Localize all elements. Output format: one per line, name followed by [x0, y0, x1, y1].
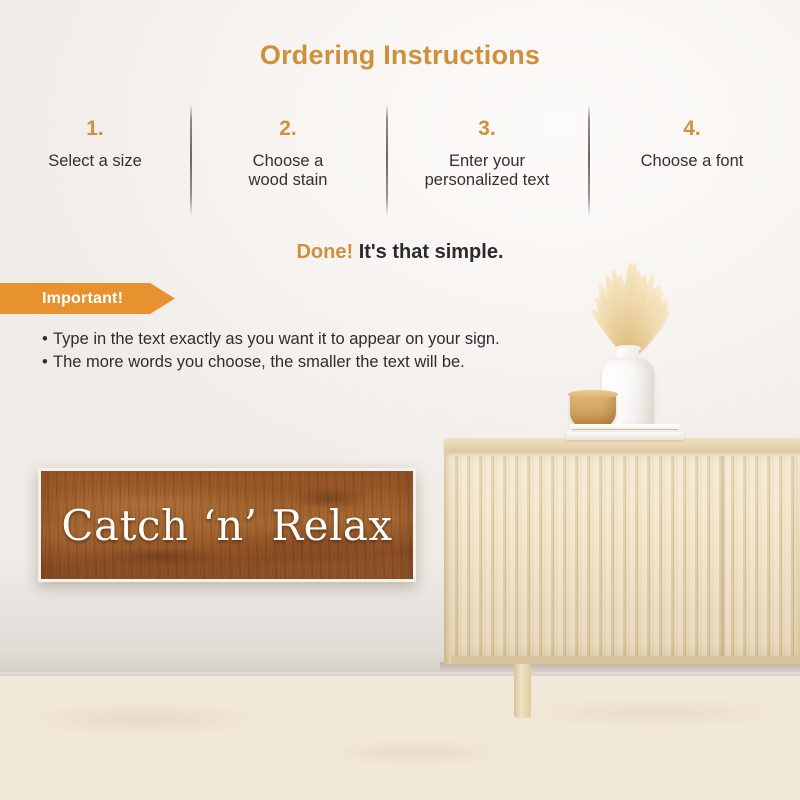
done-highlight: Done!: [296, 241, 353, 263]
sideboard-leg: [514, 664, 531, 718]
sideboard-fluted-panel: [450, 456, 798, 656]
step-2-label: Choose a wood stain: [192, 152, 384, 191]
sideboard-door-seam: [722, 456, 725, 656]
product-listing-image: Catch ‘n’ Relax Ordering Instructions 1.…: [0, 0, 800, 800]
steps-row: 1. Select a size 2. Choose a wood stain …: [0, 118, 800, 218]
step-1: 1. Select a size: [0, 118, 190, 171]
step-2: 2. Choose a wood stain: [192, 118, 384, 191]
page-title: Ordering Instructions: [0, 40, 800, 71]
step-4-label: Choose a font: [592, 152, 792, 171]
bullet-item-2: •The more words you choose, the smaller …: [42, 351, 682, 374]
bullet-glyph-1: •: [42, 328, 53, 351]
book-upper: [570, 424, 680, 432]
bullet-item-1: •Type in the text exactly as you want it…: [42, 328, 682, 351]
bullet-text-1: Type in the text exactly as you want it …: [53, 330, 500, 348]
sideboard-top: [444, 438, 800, 454]
step-1-number: 1.: [0, 118, 190, 139]
step-3: 3. Enter your personalized text: [388, 118, 586, 191]
bullet-glyph-2: •: [42, 351, 53, 374]
book-page-edge: [572, 429, 678, 430]
step-4-number: 4.: [592, 118, 792, 139]
step-3-label: Enter your personalized text: [388, 152, 586, 191]
sideboard-left-edge: [444, 452, 451, 664]
done-rest: It's that simple.: [353, 241, 503, 263]
step-1-label: Select a size: [0, 152, 190, 171]
important-bullet-list: •Type in the text exactly as you want it…: [42, 328, 682, 375]
step-3-number: 3.: [388, 118, 586, 139]
book-lower: [566, 431, 684, 440]
bullet-text-2: The more words you choose, the smaller t…: [53, 353, 465, 371]
sign-personalized-text: Catch ‘n’ Relax: [41, 471, 413, 579]
floor-grain-overlay: [0, 676, 800, 800]
important-ribbon-label: Important!: [42, 290, 123, 308]
sideboard-furniture: [444, 438, 800, 678]
wood-sign-product: Catch ‘n’ Relax: [38, 468, 416, 582]
step-divider-3: [588, 104, 590, 216]
step-4: 4. Choose a font: [592, 118, 792, 171]
important-ribbon: Important!: [0, 283, 175, 314]
stacked-books: [566, 424, 684, 440]
step-2-number: 2.: [192, 118, 384, 139]
done-line: Done! It's that simple.: [0, 241, 800, 264]
bowl-rim: [568, 390, 618, 399]
